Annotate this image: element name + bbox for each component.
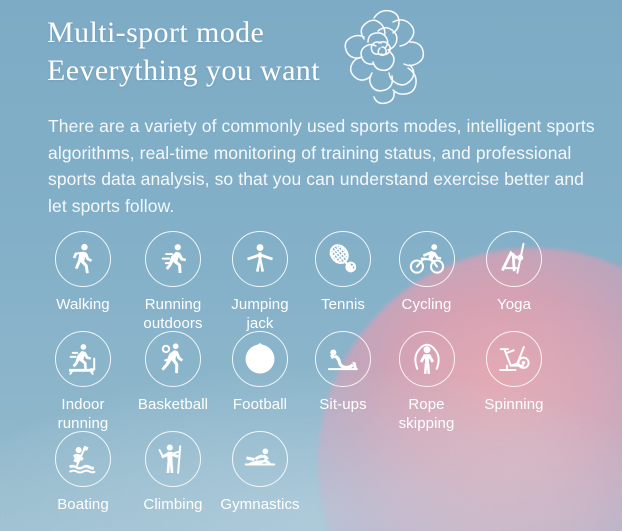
yoga-icon [486, 231, 542, 287]
rope-skipping-icon [399, 331, 455, 387]
sport-label: Jumping jack [231, 295, 288, 333]
sport-label: Cycling [402, 295, 452, 314]
page-title: Multi-sport mode Eeverything you want [47, 14, 320, 90]
sport-label: Indoor running [58, 395, 109, 433]
sport-label: Basketball [138, 395, 208, 414]
sport-item-football[interactable]: Football [218, 331, 302, 414]
sport-label: Gymnastics [220, 495, 299, 514]
tennis-icon [315, 231, 371, 287]
treadmill-icon [55, 331, 111, 387]
sport-item-rope-skipping[interactable]: Rope skipping [384, 331, 469, 433]
sport-item-spinning[interactable]: Spinning [469, 331, 559, 414]
sport-label: Spinning [484, 395, 543, 414]
jumping-jack-icon [232, 231, 288, 287]
sport-item-indoor-running[interactable]: Indoor running [38, 331, 128, 433]
flower-outline-icon [322, 6, 438, 110]
basketball-icon [145, 331, 201, 387]
spinning-bike-icon [486, 331, 542, 387]
sport-label: Running outdoors [143, 295, 202, 333]
sport-item-boating[interactable]: Boating [38, 431, 128, 514]
sport-item-basketball[interactable]: Basketball [128, 331, 218, 414]
boating-icon [55, 431, 111, 487]
sport-item-jumping-jack[interactable]: Jumping jack [218, 231, 302, 333]
sport-label: Boating [57, 495, 109, 514]
sports-row: Boating [38, 431, 598, 531]
walking-icon [55, 231, 111, 287]
running-outdoors-icon [145, 231, 201, 287]
sport-label: Rope skipping [399, 395, 455, 433]
sports-row: Indoor running Basketball [38, 331, 598, 431]
multi-sport-mode-page: Multi-sport mode Eeverything you want Th… [0, 0, 622, 531]
gymnastics-icon [232, 431, 288, 487]
sports-grid: Walking Running outdoors [38, 231, 598, 531]
sport-label: Yoga [497, 295, 531, 314]
football-icon [232, 331, 288, 387]
sport-item-running-outdoors[interactable]: Running outdoors [128, 231, 218, 333]
sport-item-gymnastics[interactable]: Gymnastics [218, 431, 302, 514]
sport-label: Sit-ups [319, 395, 366, 414]
sport-item-sit-ups[interactable]: Sit-ups [302, 331, 384, 414]
climbing-icon [145, 431, 201, 487]
sport-item-cycling[interactable]: Cycling [384, 231, 469, 314]
sport-item-yoga[interactable]: Yoga [469, 231, 559, 314]
sport-item-tennis[interactable]: Tennis [302, 231, 384, 314]
cycling-icon [399, 231, 455, 287]
sports-row: Walking Running outdoors [38, 231, 598, 331]
sport-label: Climbing [143, 495, 202, 514]
intro-paragraph: There are a variety of commonly used spo… [48, 113, 604, 219]
sport-label: Walking [56, 295, 110, 314]
sport-label: Football [233, 395, 287, 414]
sport-label: Tennis [321, 295, 365, 314]
sport-item-walking[interactable]: Walking [38, 231, 128, 314]
sport-item-climbing[interactable]: Climbing [128, 431, 218, 514]
sit-ups-icon [315, 331, 371, 387]
